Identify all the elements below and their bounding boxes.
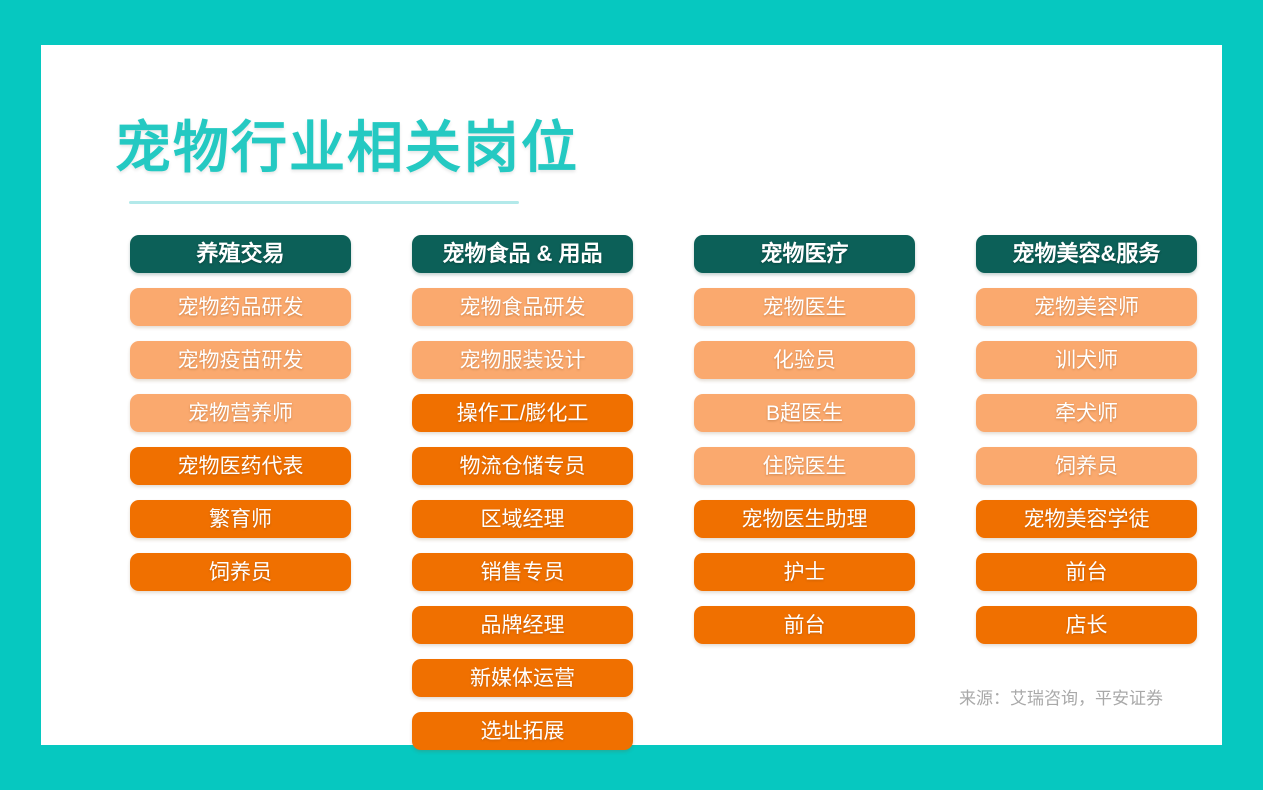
job-pill[interactable]: 操作工/膨化工 (412, 394, 633, 432)
job-pill[interactable]: 选址拓展 (412, 712, 633, 750)
category-column: 宠物食品 & 用品宠物食品研发宠物服装设计操作工/膨化工物流仓储专员区域经理销售… (412, 235, 633, 750)
job-pill[interactable]: 前台 (694, 606, 915, 644)
job-pill[interactable]: 训犬师 (976, 341, 1197, 379)
job-pill[interactable]: 宠物医药代表 (130, 447, 351, 485)
job-pill[interactable]: 化验员 (694, 341, 915, 379)
job-pill[interactable]: 宠物服装设计 (412, 341, 633, 379)
category-header[interactable]: 宠物医疗 (694, 235, 915, 273)
job-pill[interactable]: 物流仓储专员 (412, 447, 633, 485)
job-pill[interactable]: 宠物营养师 (130, 394, 351, 432)
job-pill[interactable]: 宠物食品研发 (412, 288, 633, 326)
source-note: 来源：艾瑞咨询，平安证券 (959, 684, 1163, 709)
job-pill[interactable]: 销售专员 (412, 553, 633, 591)
category-columns: 养殖交易宠物药品研发宠物疫苗研发宠物营养师宠物医药代表繁育师饲养员宠物食品 & … (130, 235, 1198, 750)
job-pill[interactable]: 宠物疫苗研发 (130, 341, 351, 379)
job-pill[interactable]: 品牌经理 (412, 606, 633, 644)
page-title: 宠物行业相关岗位 (115, 113, 579, 183)
job-pill[interactable]: 宠物医生 (694, 288, 915, 326)
job-pill[interactable]: 住院医生 (694, 447, 915, 485)
category-column: 宠物美容&服务宠物美容师训犬师牵犬师饲养员宠物美容学徒前台店长 (976, 235, 1197, 750)
job-pill[interactable]: 宠物医生助理 (694, 500, 915, 538)
category-column: 养殖交易宠物药品研发宠物疫苗研发宠物营养师宠物医药代表繁育师饲养员 (130, 235, 351, 750)
job-pill[interactable]: 前台 (976, 553, 1197, 591)
job-pill[interactable]: 牵犬师 (976, 394, 1197, 432)
job-pill[interactable]: 宠物药品研发 (130, 288, 351, 326)
job-pill[interactable]: 饲养员 (976, 447, 1197, 485)
category-header[interactable]: 养殖交易 (130, 235, 351, 273)
job-pill[interactable]: 繁育师 (130, 500, 351, 538)
category-header[interactable]: 宠物美容&服务 (976, 235, 1197, 273)
job-pill[interactable]: 店长 (976, 606, 1197, 644)
category-header[interactable]: 宠物食品 & 用品 (412, 235, 633, 273)
content-card: 宠物行业相关岗位 养殖交易宠物药品研发宠物疫苗研发宠物营养师宠物医药代表繁育师饲… (41, 45, 1222, 745)
category-column: 宠物医疗宠物医生化验员B超医生住院医生宠物医生助理护士前台 (694, 235, 915, 750)
job-pill[interactable]: 区域经理 (412, 500, 633, 538)
job-pill[interactable]: 宠物美容师 (976, 288, 1197, 326)
job-pill[interactable]: 宠物美容学徒 (976, 500, 1197, 538)
job-pill[interactable]: 新媒体运营 (412, 659, 633, 697)
job-pill[interactable]: 护士 (694, 553, 915, 591)
job-pill[interactable]: 饲养员 (130, 553, 351, 591)
job-pill[interactable]: B超医生 (694, 394, 915, 432)
slide-root: 宠物行业相关岗位 养殖交易宠物药品研发宠物疫苗研发宠物营养师宠物医药代表繁育师饲… (0, 0, 1263, 790)
title-divider (129, 201, 519, 204)
